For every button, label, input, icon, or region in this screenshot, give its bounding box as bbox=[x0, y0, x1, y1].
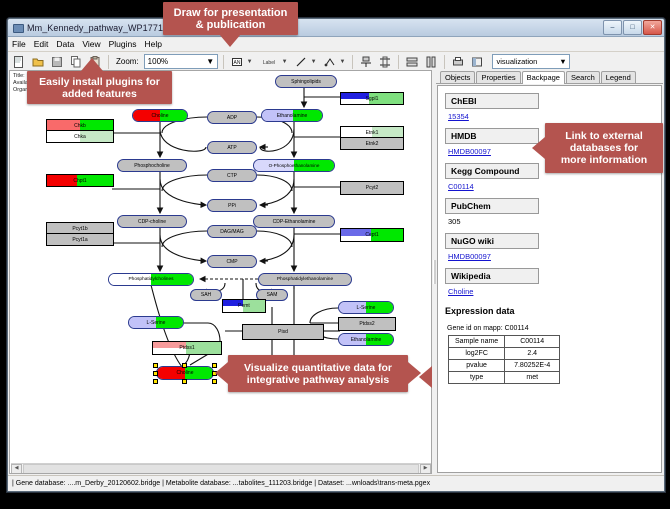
callout-draw-arrow-icon bbox=[219, 34, 241, 47]
node-label: DAG/MAG bbox=[220, 229, 244, 235]
metabolite-node[interactable]: Phosphatidylcholines bbox=[108, 273, 194, 286]
chevron-down-icon[interactable]: ▼ bbox=[311, 59, 317, 65]
window-controls[interactable]: – □ ✕ bbox=[603, 20, 662, 35]
chevron-down-icon[interactable]: ▼ bbox=[247, 59, 253, 65]
metabolite-node[interactable]: CDP-Ethanolamine bbox=[253, 215, 335, 228]
metabolite-node[interactable]: Sphingolipids bbox=[275, 75, 337, 88]
gene-box[interactable]: Pemt bbox=[222, 299, 266, 313]
toolbar-separator bbox=[352, 55, 353, 69]
callout-plugins: Easily install plugins for added feature… bbox=[27, 71, 172, 104]
gene-box[interactable]: Cept1 bbox=[340, 228, 404, 242]
node-label: Pemt bbox=[238, 303, 250, 309]
pathway-canvas[interactable]: Title: Availa Organ bbox=[9, 70, 432, 474]
node-label: SAM bbox=[267, 292, 278, 298]
node-label: Phosphocholine bbox=[134, 163, 170, 169]
node-label: Pcyt1a bbox=[72, 237, 87, 243]
pathway-nodes: Sphingolipids Choline Ethanolamine ADP bbox=[10, 71, 431, 474]
canvas-hscrollbar[interactable]: ◀ ▶ bbox=[11, 463, 431, 473]
menu-bar: File Edit Data View Plugins Help bbox=[8, 37, 664, 52]
visualization-value: visualization bbox=[496, 57, 537, 66]
gene-box[interactable]: Pcyt2 bbox=[340, 181, 404, 195]
node-label: Cept1 bbox=[365, 232, 378, 238]
status-bar: | Gene database: ....m_Derby_20120602.br… bbox=[8, 475, 664, 491]
scroll-thumb[interactable] bbox=[23, 464, 419, 474]
side-panel-tabs: Objects Properties Backpage Search Legen… bbox=[436, 70, 663, 84]
metabolite-node[interactable]: DAG/MAG bbox=[207, 225, 257, 238]
table-row: type met bbox=[449, 372, 560, 384]
node-label: Ethanolamine bbox=[277, 113, 308, 119]
scroll-left-icon[interactable]: ◀ bbox=[11, 464, 22, 474]
gene-box[interactable]: Chka bbox=[46, 130, 114, 143]
node-label: Choline bbox=[152, 113, 169, 119]
expression-data-title: Expression data bbox=[445, 306, 654, 316]
backpage-link-chebi[interactable]: 15354 bbox=[448, 112, 654, 121]
gene-box[interactable]: Chpt1 bbox=[46, 174, 114, 187]
chevron-down-icon[interactable]: ▼ bbox=[205, 56, 216, 67]
label-icon[interactable]: Label bbox=[258, 54, 280, 70]
tab-legend[interactable]: Legend bbox=[601, 71, 636, 83]
callout-links: Link to external databases for more info… bbox=[545, 123, 663, 173]
node-label: Chpt1 bbox=[73, 178, 86, 184]
menu-item-file[interactable]: File bbox=[12, 39, 26, 49]
callout-draw-text: Draw for presentation & publication bbox=[174, 7, 288, 31]
align-icon[interactable] bbox=[358, 54, 374, 70]
node-label: Ptdss2 bbox=[359, 321, 374, 327]
gene-box[interactable]: Ptdss2 bbox=[338, 317, 396, 331]
node-fill-left bbox=[47, 175, 77, 186]
metabolite-node[interactable]: O-Phosphoethanolamine bbox=[253, 159, 335, 172]
node-label: Choline bbox=[177, 370, 194, 376]
metabolite-node[interactable]: CDP-choline bbox=[117, 215, 187, 228]
selection-handle[interactable] bbox=[182, 363, 187, 368]
menu-item-plugins[interactable]: Plugins bbox=[109, 39, 137, 49]
selection-handle[interactable] bbox=[182, 379, 187, 384]
backpage-heading-kegg: Kegg Compound bbox=[445, 163, 539, 179]
node-label: L-Serine bbox=[357, 305, 376, 311]
visualization-combo[interactable]: visualization ▼ bbox=[492, 54, 570, 69]
table-cell-value: C00114 bbox=[505, 336, 560, 348]
metabolite-node-selected[interactable]: Choline bbox=[156, 366, 214, 380]
node-label: PPi bbox=[228, 203, 236, 209]
title-bar: Mm_Kennedy_pathway_WP1771_45176.gpml – □… bbox=[8, 19, 664, 37]
backpage-value-pubchem: 305 bbox=[448, 217, 654, 226]
toolbar-separator bbox=[398, 55, 399, 69]
callout-plugins-text: Easily install plugins for added feature… bbox=[39, 76, 160, 100]
node-label: SAH bbox=[201, 292, 211, 298]
node-label: L-Serine bbox=[147, 320, 166, 326]
print-icon[interactable] bbox=[450, 54, 466, 70]
backpage-link-wikipedia[interactable]: Choline bbox=[448, 287, 654, 296]
metabolite-node[interactable]: Ethanolamine bbox=[338, 333, 394, 346]
node-label: Etnk2 bbox=[366, 141, 379, 147]
table-row: log2FC 2.4 bbox=[449, 348, 560, 360]
save-icon[interactable] bbox=[49, 54, 65, 70]
table-cell-label: Sample name bbox=[449, 336, 505, 348]
svg-text:AN: AN bbox=[233, 60, 240, 66]
distribute-icon[interactable] bbox=[377, 54, 393, 70]
callout-plugins-arrow-icon bbox=[81, 58, 103, 71]
node-label: CDP-choline bbox=[138, 219, 166, 225]
backpage-heading-hmdb: HMDB bbox=[445, 128, 539, 144]
metabolite-node[interactable]: CTP bbox=[207, 169, 257, 182]
menu-item-help[interactable]: Help bbox=[145, 39, 162, 49]
node-label: Pcyt1b bbox=[72, 226, 87, 232]
menu-item-edit[interactable]: Edit bbox=[34, 39, 49, 49]
shape-icon[interactable] bbox=[322, 54, 338, 70]
backpage-heading-pubchem: PubChem bbox=[445, 198, 539, 214]
menu-item-data[interactable]: Data bbox=[56, 39, 74, 49]
table-cell-value: met bbox=[505, 372, 560, 384]
backpage-heading-nugo: NuGO wiki bbox=[445, 233, 539, 249]
node-label: Etnk1 bbox=[366, 130, 379, 136]
node-label: Phosphatidylethanolamine bbox=[277, 277, 333, 283]
table-cell-value: 2.4 bbox=[505, 348, 560, 360]
backpage-heading-chebi: ChEBI bbox=[445, 93, 539, 109]
scroll-right-icon[interactable]: ▶ bbox=[420, 464, 431, 474]
metabolite-node[interactable]: Phosphocholine bbox=[117, 159, 187, 172]
selection-handle[interactable] bbox=[153, 363, 158, 368]
maximize-button[interactable]: □ bbox=[623, 20, 642, 35]
node-label: Sgpl1 bbox=[366, 96, 379, 102]
node-label: CTP bbox=[227, 173, 237, 179]
metabolite-node[interactable]: Choline bbox=[132, 109, 188, 122]
toolbar-separator bbox=[444, 55, 445, 69]
zoom-label: Zoom: bbox=[116, 57, 139, 66]
node-label: Phosphatidylcholines bbox=[128, 277, 173, 283]
metabolite-node[interactable]: ATP bbox=[207, 141, 257, 154]
backpage-heading-wikipedia: Wikipedia bbox=[445, 268, 539, 284]
metabolite-node[interactable]: L-Serine bbox=[338, 301, 394, 314]
node-label: Ethanolamine bbox=[351, 337, 382, 343]
datanode-icon[interactable]: AN bbox=[229, 54, 245, 70]
gene-box[interactable]: Pcyt1a bbox=[46, 233, 114, 246]
gene-box[interactable]: Sgpl1 bbox=[340, 92, 404, 105]
expression-data-table: Sample name C00114 log2FC 2.4 pvalue 7.8… bbox=[448, 335, 560, 384]
minimize-button[interactable]: – bbox=[603, 20, 622, 35]
selection-handle[interactable] bbox=[153, 371, 158, 376]
node-label: Sphingolipids bbox=[291, 79, 321, 85]
gene-box[interactable]: Pisd bbox=[242, 324, 324, 340]
callout-links-text: Link to external databases for more info… bbox=[561, 130, 647, 166]
callout-visualize-text: Visualize quantitative data for integrat… bbox=[244, 362, 392, 386]
close-button[interactable]: ✕ bbox=[643, 20, 662, 35]
node-label: Ptdss1 bbox=[179, 345, 194, 351]
gene-id-line: Gene id on mapp: C00114 bbox=[447, 325, 654, 332]
zoom-combo[interactable]: 100% ▼ bbox=[144, 54, 218, 69]
metabolite-node[interactable]: L-Serine bbox=[128, 316, 184, 329]
metabolite-node[interactable]: SAH bbox=[190, 289, 222, 301]
node-label: O-Phosphoethanolamine bbox=[269, 163, 320, 169]
width-icon[interactable] bbox=[423, 54, 439, 70]
metabolite-node[interactable]: PPi bbox=[207, 199, 257, 212]
callout-expression-arrow-icon bbox=[419, 366, 432, 388]
node-label: Pcyt2 bbox=[366, 185, 379, 191]
callout-draw: Draw for presentation & publication bbox=[163, 2, 298, 35]
svg-text:Label: Label bbox=[263, 60, 275, 66]
new-icon[interactable] bbox=[11, 54, 27, 70]
table-cell-label: pvalue bbox=[449, 360, 505, 372]
tab-search[interactable]: Search bbox=[566, 71, 600, 83]
metabolite-node[interactable]: Phosphatidylethanolamine bbox=[258, 273, 352, 286]
backpage-link-kegg[interactable]: C00114 bbox=[448, 182, 654, 191]
table-row: Sample name C00114 bbox=[449, 336, 560, 348]
tab-objects[interactable]: Objects bbox=[440, 71, 475, 83]
gene-box[interactable]: Ptdss1 bbox=[152, 341, 222, 355]
selection-handle[interactable] bbox=[153, 379, 158, 384]
table-cell-label: type bbox=[449, 372, 505, 384]
app-icon bbox=[12, 22, 23, 33]
gene-box[interactable]: Etnk2 bbox=[340, 137, 404, 150]
tab-properties[interactable]: Properties bbox=[476, 71, 520, 83]
node-label: CDP-Ethanolamine bbox=[273, 219, 316, 225]
callout-visualize: Visualize quantitative data for integrat… bbox=[228, 355, 408, 392]
screenshot-root: Mm_Kennedy_pathway_WP1771_45176.gpml – □… bbox=[0, 0, 670, 509]
node-label: ADP bbox=[227, 115, 237, 121]
chevron-down-icon[interactable]: ▼ bbox=[340, 59, 346, 65]
node-label: Chkb bbox=[74, 123, 86, 129]
metabolite-node[interactable]: ADP bbox=[207, 111, 257, 124]
table-cell-label: log2FC bbox=[449, 348, 505, 360]
node-label: CMP bbox=[226, 259, 237, 265]
chevron-down-icon[interactable]: ▼ bbox=[282, 59, 288, 65]
node-label: Chka bbox=[74, 134, 86, 140]
node-label: ATP bbox=[227, 145, 236, 151]
callout-visualize-arrow-left-icon bbox=[215, 362, 228, 384]
tab-backpage[interactable]: Backpage bbox=[522, 71, 565, 84]
table-row: pvalue 7.80252E-4 bbox=[449, 360, 560, 372]
metabolite-node[interactable]: CMP bbox=[207, 255, 257, 268]
chevron-down-icon[interactable]: ▼ bbox=[557, 56, 568, 67]
stack-icon[interactable] bbox=[404, 54, 420, 70]
menu-item-view[interactable]: View bbox=[82, 39, 100, 49]
status-bar-text: | Gene database: ....m_Derby_20120602.br… bbox=[12, 480, 430, 487]
zoom-value: 100% bbox=[148, 57, 168, 66]
table-cell-value: 7.80252E-4 bbox=[505, 360, 560, 372]
open-icon[interactable] bbox=[30, 54, 46, 70]
toolbar-separator bbox=[108, 55, 109, 69]
backpage-link-nugo[interactable]: HMDB00097 bbox=[448, 252, 654, 261]
layout-icon[interactable] bbox=[469, 54, 485, 70]
metabolite-node[interactable]: Ethanolamine bbox=[261, 109, 323, 122]
toolbar-separator bbox=[223, 55, 224, 69]
line-icon[interactable] bbox=[293, 54, 309, 70]
callout-links-arrow-icon bbox=[532, 137, 545, 159]
node-label: Pisd bbox=[278, 329, 288, 335]
